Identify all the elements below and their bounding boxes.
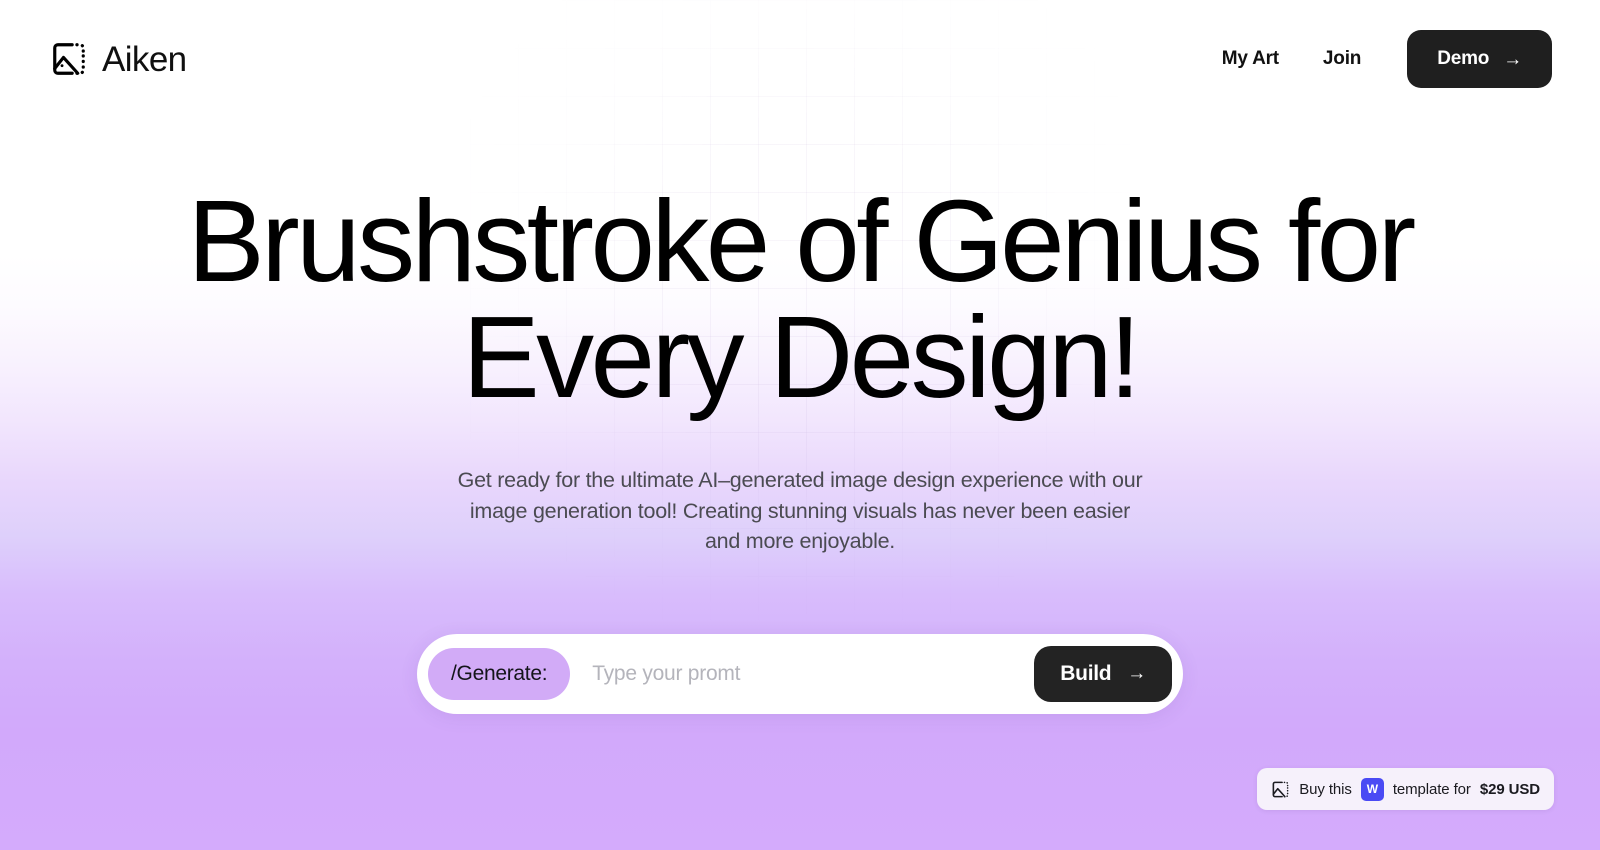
page-background: Aiken My Art Join Demo → Brushstroke of …	[0, 0, 1600, 850]
nav-link-my-art[interactable]: My Art	[1200, 48, 1301, 70]
demo-button-label: Demo	[1437, 48, 1489, 70]
generate-command-pill[interactable]: /Generate:	[428, 648, 570, 700]
nav-link-join[interactable]: Join	[1301, 48, 1383, 70]
buy-badge-text-after: template for	[1393, 781, 1471, 798]
arrow-right-icon: →	[1127, 664, 1146, 683]
demo-button[interactable]: Demo →	[1407, 30, 1552, 88]
webflow-chip-icon: W	[1361, 778, 1384, 801]
brand-logo[interactable]: Aiken	[50, 40, 187, 78]
prompt-bar: /Generate: Build →	[417, 634, 1183, 714]
hero-section: Brushstroke of Genius for Every Design! …	[0, 0, 1600, 850]
headline-line-1: Brushstroke of Genius for	[175, 183, 1425, 299]
nav-links: My Art Join Demo →	[1200, 30, 1552, 88]
buy-badge-text-before: Buy this	[1299, 781, 1352, 798]
build-button[interactable]: Build →	[1034, 646, 1172, 702]
brand-name: Aiken	[102, 42, 187, 77]
headline-line-2: Every Design!	[175, 299, 1425, 415]
buy-template-badge[interactable]: Buy this W template for $29 USD	[1257, 768, 1554, 810]
buy-badge-price: $29 USD	[1480, 781, 1540, 798]
build-button-label: Build	[1060, 662, 1111, 686]
navbar: Aiken My Art Join Demo →	[0, 0, 1600, 118]
image-placeholder-icon	[1271, 780, 1290, 799]
prompt-input[interactable]	[570, 648, 1034, 700]
page-title: Brushstroke of Genius for Every Design!	[175, 183, 1425, 415]
hero-subheadline: Get ready for the ultimate AI–generated …	[455, 465, 1145, 557]
image-placeholder-icon	[50, 40, 88, 78]
arrow-right-icon: →	[1503, 50, 1522, 69]
